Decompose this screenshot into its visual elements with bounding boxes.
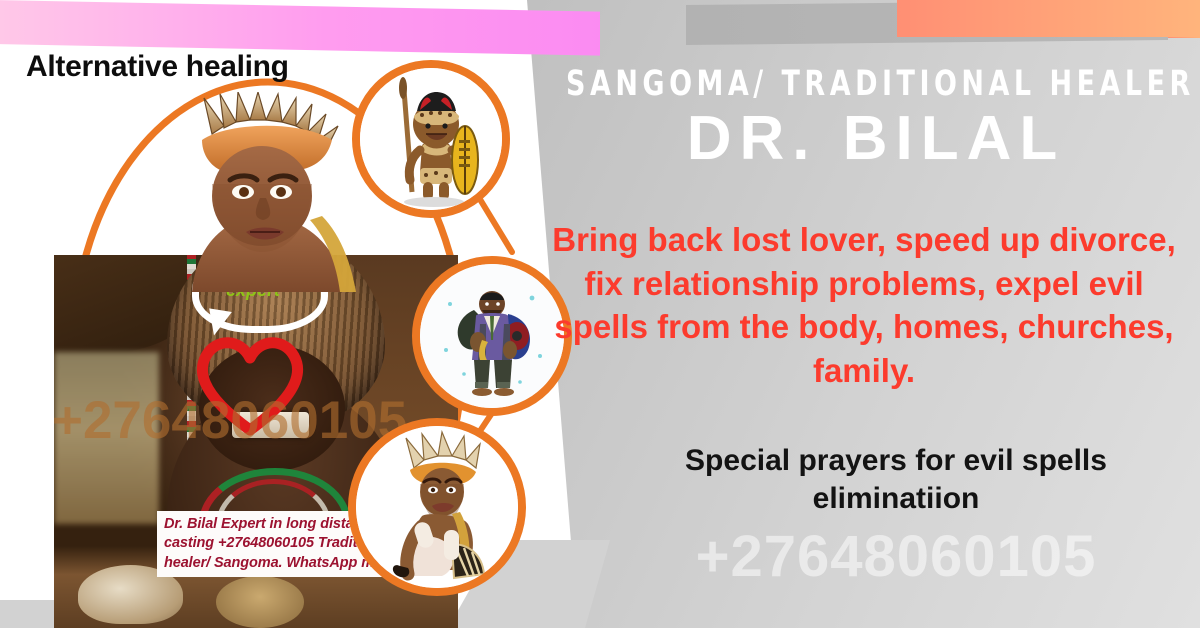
healer-name-heading: DR. BILAL [566,108,1186,170]
caption-line: healer/ Sangoma. WhatsApp me [164,554,388,573]
poster-canvas: Ask the expert +27648060105 Dr. Bilal Ex… [0,0,1200,628]
foreground-object [216,576,305,628]
top-gray-band [686,0,1168,45]
eyebrow-heading: SANGOMA/ TRADITIONAL HEALER [566,64,1186,104]
page-title-alternative-healing: Alternative healing [26,50,289,84]
circle-image-sangoma-dancer [348,418,526,596]
phone-watermark: +27648060105 [604,523,1188,590]
zulu-warrior-icon [360,68,502,210]
special-prayers-text: Special prayers for evil spells eliminat… [604,442,1188,519]
sangoma-dancer-icon [356,426,518,588]
services-text: Bring back lost lover, speed up divorce,… [540,218,1188,392]
circle-image-zulu-warrior [352,60,510,218]
top-pink-band [0,0,600,56]
